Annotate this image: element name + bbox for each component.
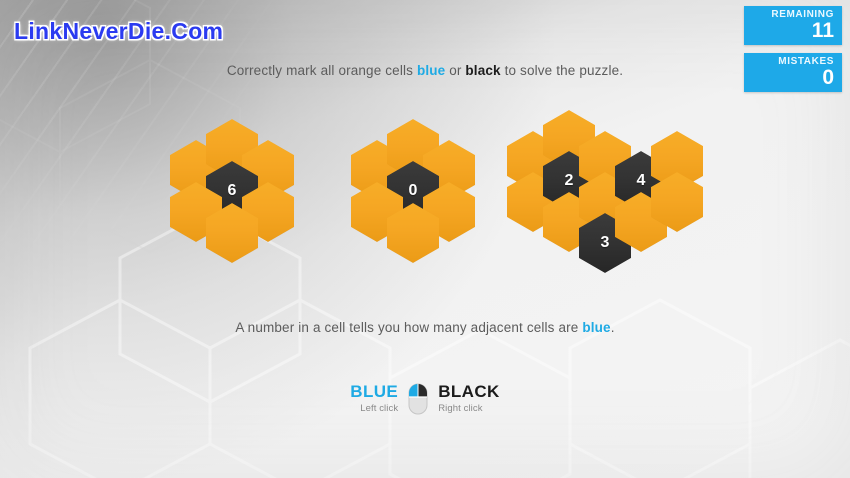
legend-black: BLACK Right click xyxy=(438,382,500,414)
hex-cell-number: 2 xyxy=(564,172,573,190)
hex-cell-number: 0 xyxy=(408,182,417,200)
legend-blue-title: BLUE xyxy=(350,382,398,401)
instruction-bottom-part2: . xyxy=(611,320,615,335)
legend-blue: BLUE Left click xyxy=(350,382,398,414)
instruction-bottom-keyword-blue: blue xyxy=(582,320,610,335)
controls-legend: BLUE Left click BLACK Right click xyxy=(0,382,850,415)
legend-black-sub: Right click xyxy=(438,403,500,414)
legend-black-title: BLACK xyxy=(438,382,500,401)
hex-cell-number: 3 xyxy=(600,234,609,252)
hex-cell-number: 6 xyxy=(227,182,236,200)
mouse-icon xyxy=(407,383,429,415)
legend-blue-sub: Left click xyxy=(350,403,398,414)
hex-cell-number: 4 xyxy=(636,172,645,190)
instruction-bottom-part1: A number in a cell tells you how many ad… xyxy=(235,320,582,335)
instruction-bottom: A number in a cell tells you how many ad… xyxy=(0,320,850,335)
